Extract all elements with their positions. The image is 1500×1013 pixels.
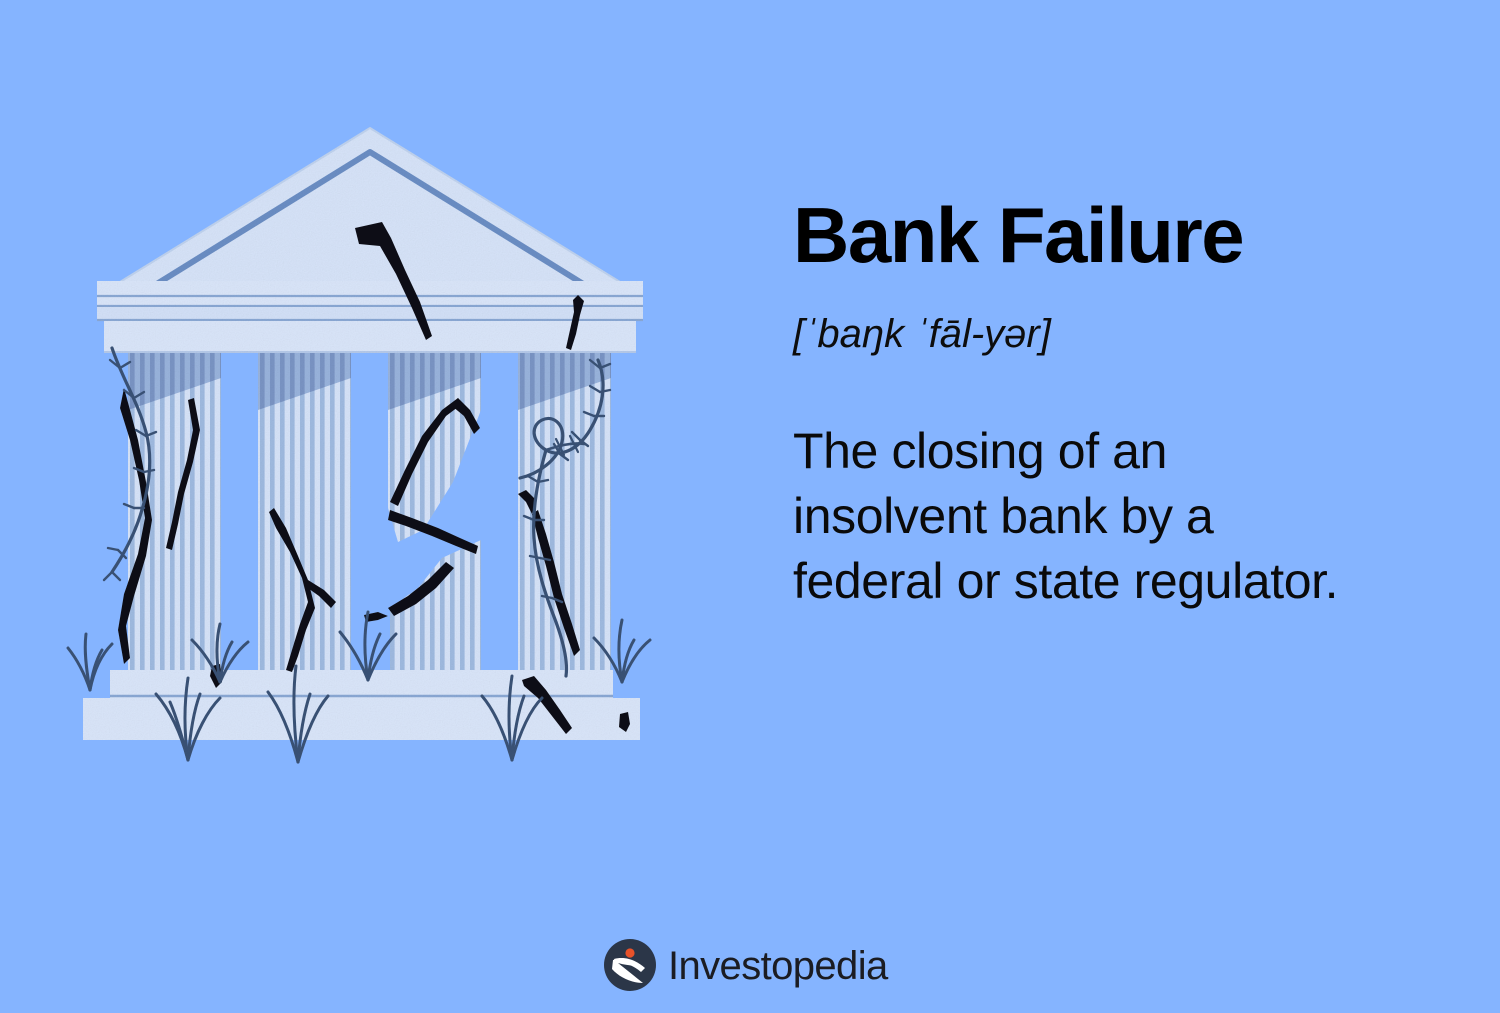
entablature — [97, 281, 643, 353]
definition-text-block: Bank Failure [ˈbaŋk ˈfāl-yər] The closin… — [793, 196, 1453, 614]
definition-line-3: federal or state regulator. — [793, 549, 1453, 614]
brand-wordmark: Investopedia — [668, 946, 888, 986]
pediment — [100, 128, 640, 300]
investopedia-logo[interactable]: Investopedia — [603, 938, 888, 992]
definition-text: The closing of an insolvent bank by a fe… — [793, 419, 1453, 614]
investopedia-circle-logo-icon — [603, 938, 657, 992]
definition-line-2: insolvent bank by a — [793, 484, 1453, 549]
definition-line-1: The closing of an — [793, 419, 1453, 484]
columns — [128, 342, 611, 672]
definition-card: Bank Failure [ˈbaŋk ˈfāl-yər] The closin… — [0, 0, 1500, 1013]
column-3-broken — [388, 342, 481, 672]
cracked-bank-building-illustration — [60, 110, 680, 770]
pronunciation-text: [ˈbaŋk ˈfāl-yər] — [793, 312, 1453, 357]
page-title: Bank Failure — [793, 196, 1453, 276]
